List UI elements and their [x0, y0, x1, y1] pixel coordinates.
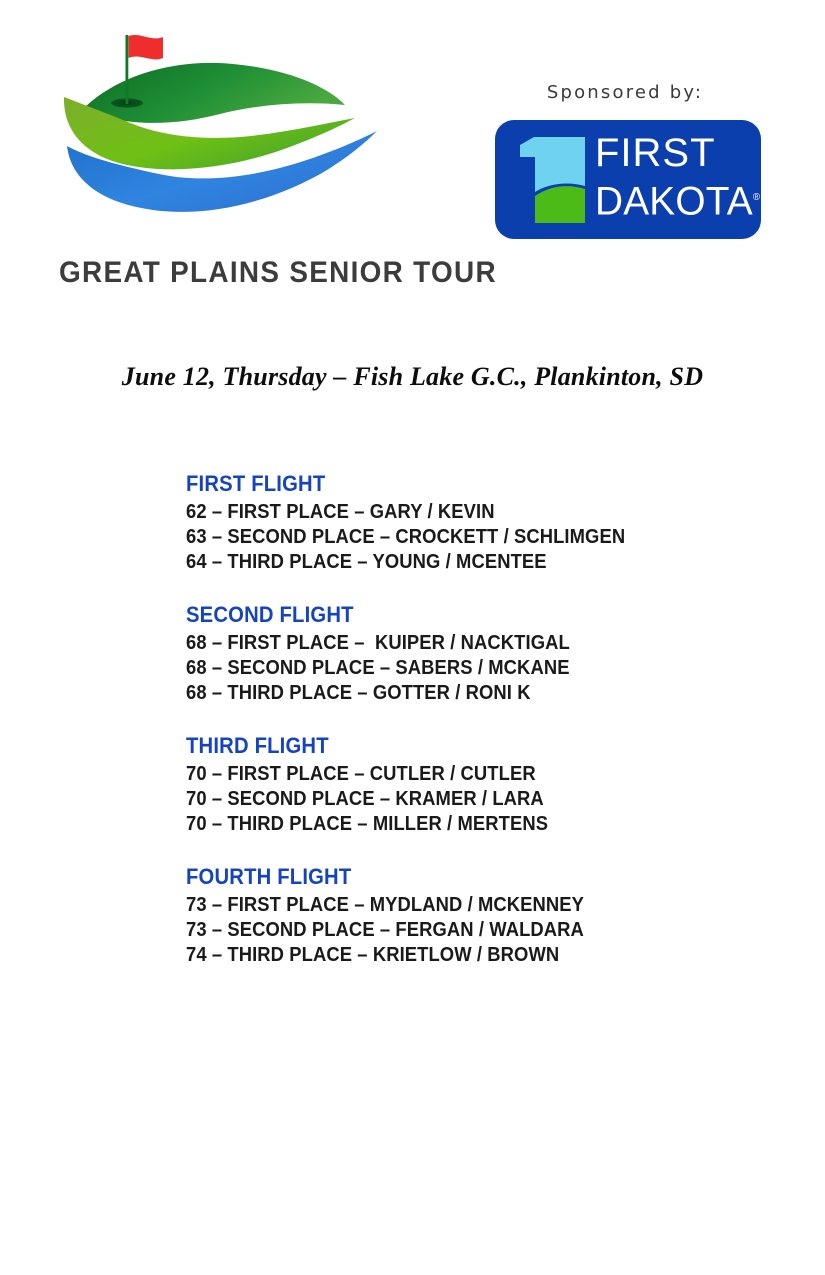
flight-heading: FOURTH FLIGHT: [186, 863, 701, 890]
event-title: June 12, Thursday – Fish Lake G.C., Plan…: [0, 362, 825, 392]
first-dakota-line1: FIRST: [595, 132, 755, 175]
tour-wordmark: GREAT PLAINS SENIOR TOUR: [59, 256, 366, 290]
flight-result-row: 70 – FIRST PLACE – CUTLER / CUTLER: [186, 762, 701, 787]
flight-result-row: 73 – FIRST PLACE – MYDLAND / MCKENNEY: [186, 893, 701, 918]
first-dakota-wordmark: FIRST DAKOTA®: [595, 132, 755, 224]
sponsor-block: Sponsored by: FIRST DAKOTA®: [470, 82, 790, 103]
first-dakota-line2: DAKOTA®: [595, 175, 750, 224]
flight-block: FOURTH FLIGHT 73 – FIRST PLACE – MYDLAND…: [186, 863, 746, 968]
results-page: GREAT PLAINS SENIOR TOUR Sponsored by: F…: [0, 0, 825, 1275]
flight-heading: SECOND FLIGHT: [186, 601, 701, 628]
flight-block: FIRST FLIGHT 62 – FIRST PLACE – GARY / K…: [186, 470, 746, 575]
flight-result-row: 64 – THIRD PLACE – YOUNG / MCENTEE: [186, 550, 701, 575]
flight-block: THIRD FLIGHT 70 – FIRST PLACE – CUTLER /…: [186, 732, 746, 837]
flight-result-row: 63 – SECOND PLACE – CROCKETT / SCHLIMGEN: [186, 525, 701, 550]
registered-trademark-icon: ®: [753, 192, 760, 203]
flight-heading: THIRD FLIGHT: [186, 732, 701, 759]
flight-result-row: 62 – FIRST PLACE – GARY / KEVIN: [186, 500, 701, 525]
golf-swoosh-logo-icon: [55, 28, 390, 233]
sponsored-by-label: Sponsored by:: [480, 82, 770, 103]
page-header: GREAT PLAINS SENIOR TOUR Sponsored by: F…: [0, 0, 825, 300]
first-dakota-mark-icon: [514, 137, 585, 223]
flight-result-row: 68 – THIRD PLACE – GOTTER / RONI K: [186, 681, 701, 706]
results-list: FIRST FLIGHT 62 – FIRST PLACE – GARY / K…: [186, 470, 746, 968]
flight-result-row: 73 – SECOND PLACE – FERGAN / WALDARA: [186, 918, 701, 943]
tour-logo: GREAT PLAINS SENIOR TOUR: [55, 28, 390, 278]
flight-block: SECOND FLIGHT 68 – FIRST PLACE – KUIPER …: [186, 601, 746, 706]
flight-heading: FIRST FLIGHT: [186, 470, 701, 497]
flight-result-row: 70 – THIRD PLACE – MILLER / MERTENS: [186, 812, 701, 837]
flight-result-row: 68 – SECOND PLACE – SABERS / MCKANE: [186, 656, 701, 681]
flight-result-row: 70 – SECOND PLACE – KRAMER / LARA: [186, 787, 701, 812]
first-dakota-line2-text: DAKOTA: [595, 179, 753, 223]
flight-result-row: 74 – THIRD PLACE – KRIETLOW / BROWN: [186, 943, 701, 968]
flight-result-row: 68 – FIRST PLACE – KUIPER / NACKTIGAL: [186, 631, 701, 656]
first-dakota-logo: FIRST DAKOTA®: [495, 120, 761, 239]
